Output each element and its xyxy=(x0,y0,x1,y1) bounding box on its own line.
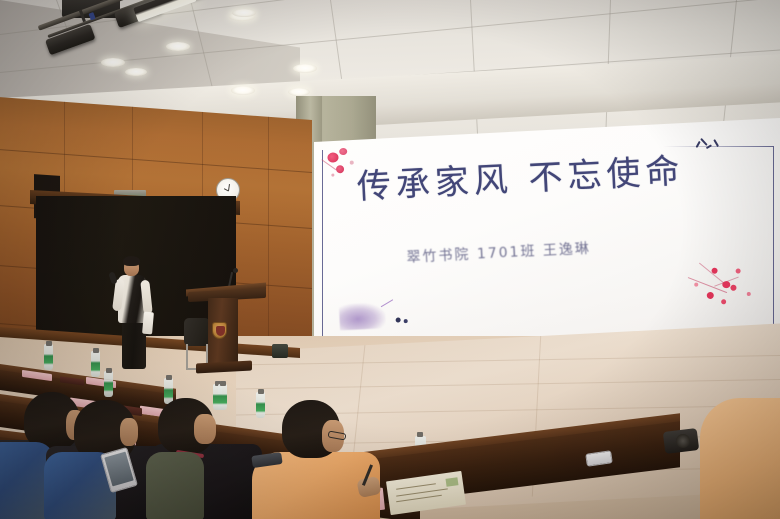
ink-accent-dot xyxy=(404,319,408,323)
auditorium-seat xyxy=(146,452,204,519)
water-bottle xyxy=(104,371,113,397)
lecture-hall-scene: 传承家风 不忘使命 翠竹书院 1701班 王逸琳 xyxy=(0,0,780,519)
presenter-hair xyxy=(123,256,140,266)
water-bottle xyxy=(218,384,227,410)
presenter-notes xyxy=(142,312,154,335)
form-stamp xyxy=(446,477,459,487)
ink-wash-bottom-left xyxy=(339,302,386,330)
ink-accent-dot xyxy=(396,317,401,322)
microphone-head xyxy=(233,268,238,273)
floor-monitor-speaker xyxy=(272,344,288,358)
water-bottle xyxy=(256,392,265,418)
camera-lens-icon xyxy=(676,434,690,448)
water-bottle xyxy=(91,351,100,377)
school-crest-emblem xyxy=(212,322,227,339)
slide-subtitle: 翠竹书院 1701班 王逸琳 xyxy=(406,230,747,267)
slide-title: 传承家风 不忘使命 xyxy=(356,140,758,209)
water-bottle xyxy=(44,344,53,370)
stage-chair xyxy=(184,318,210,346)
